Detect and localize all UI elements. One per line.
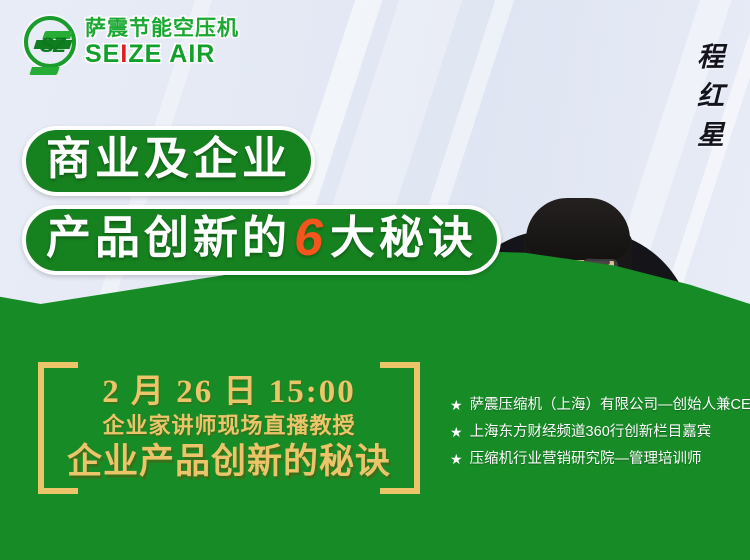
credential-text: 压缩机行业营销研究院—管理培训师 bbox=[470, 450, 702, 468]
event-subtitle: 企业家讲师现场直播教授 bbox=[102, 412, 355, 440]
headline-line-2-prefix: 产品创新的 bbox=[46, 213, 291, 263]
event-datetime: 2 月 26 日 15:00 bbox=[102, 373, 356, 411]
brand-name-en-part2: ZE AIR bbox=[128, 40, 215, 68]
logo-monogram-text: SZ bbox=[40, 33, 65, 59]
star-icon: ★ bbox=[450, 424, 463, 440]
event-topic: 企业产品创新的秘诀 bbox=[67, 441, 391, 483]
event-bracket-block: 2 月 26 日 15:00 企业家讲师现场直播教授 企业产品创新的秘诀 bbox=[38, 362, 420, 494]
brand-name-cn: 萨震节能空压机 bbox=[85, 18, 239, 39]
brand-logo-text: 萨震节能空压机 SEIZE AIR bbox=[85, 18, 239, 67]
event-text-group: 2 月 26 日 15:00 企业家讲师现场直播教授 企业产品创新的秘诀 bbox=[82, 362, 376, 494]
credential-text: 上海东方财经频道360行创新栏目嘉宾 bbox=[470, 423, 712, 441]
brand-name-en-part1: SE bbox=[85, 40, 120, 68]
brand-name-en: SEIZE AIR bbox=[85, 42, 239, 67]
list-item: ★ 上海东方财经频道360行创新栏目嘉宾 bbox=[450, 423, 740, 441]
star-icon: ★ bbox=[450, 451, 463, 467]
promo-poster: SZ 萨震节能空压机 SEIZE AIR 程红星 商业及企业 产品创新的6大秘诀… bbox=[0, 0, 750, 560]
brand-logo: SZ 萨震节能空压机 SEIZE AIR bbox=[24, 16, 239, 68]
headline-pill-1: 商业及企业 bbox=[22, 126, 315, 196]
headline-group: 商业及企业 产品创新的6大秘诀 bbox=[22, 126, 750, 275]
star-icon: ★ bbox=[450, 397, 463, 413]
credential-text: 萨震压缩机（上海）有限公司—创始人兼CEO bbox=[470, 396, 750, 414]
credentials-list: ★ 萨震压缩机（上海）有限公司—创始人兼CEO ★ 上海东方财经频道360行创新… bbox=[450, 396, 740, 468]
list-item: ★ 萨震压缩机（上海）有限公司—创始人兼CEO bbox=[450, 396, 740, 414]
headline-line-2-suffix: 大秘诀 bbox=[330, 213, 477, 263]
headline-line-1: 商业及企业 bbox=[46, 134, 291, 184]
sz-monogram-icon: SZ bbox=[24, 16, 76, 68]
list-item: ★ 压缩机行业营销研究院—管理培训师 bbox=[450, 450, 740, 468]
headline-number: 6 bbox=[291, 213, 330, 263]
headline-pill-2: 产品创新的6大秘诀 bbox=[22, 205, 501, 275]
